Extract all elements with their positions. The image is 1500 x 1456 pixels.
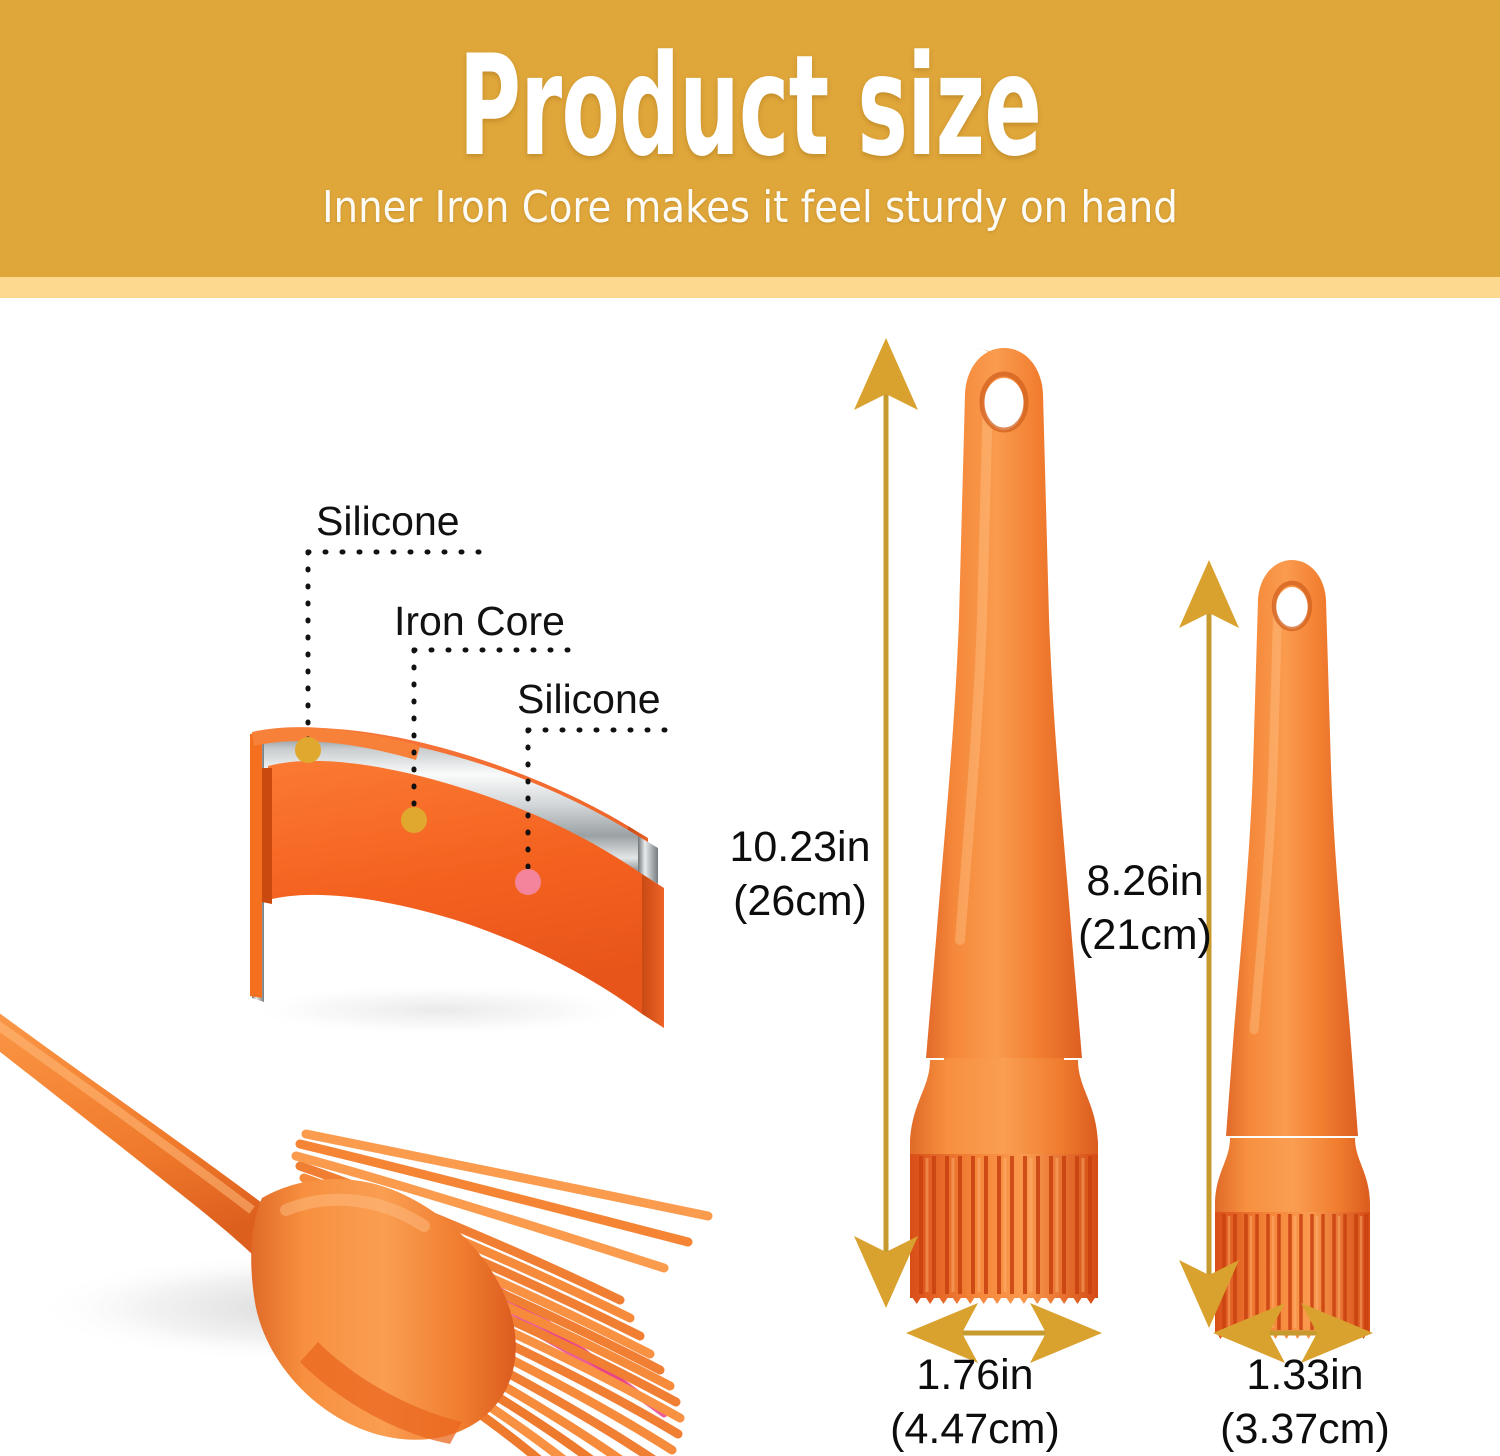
callout-dot-2: [515, 869, 541, 895]
page-title: Product size: [210, 36, 1290, 175]
dimension-small-height-cm: (21cm): [1040, 908, 1250, 962]
cross-section-front-left-edge: [262, 768, 272, 904]
large-brush: [910, 348, 1098, 1304]
product-illustration-stage: Silicone Iron Core Silicone 10.23in (26c…: [0, 298, 1500, 1448]
foreground-brush: [0, 970, 708, 1456]
dimension-label-small-width: 1.33in (3.37cm): [1185, 1348, 1425, 1456]
cross-section-front-edge: [642, 874, 664, 1028]
dimension-label-large-width: 1.76in (4.47cm): [855, 1348, 1095, 1456]
header-banner: Product size Inner Iron Core makes it fe…: [0, 0, 1500, 277]
page-subtitle: Inner Iron Core makes it feel sturdy on …: [90, 184, 1410, 232]
dimension-large-height-cm: (26cm): [690, 874, 910, 928]
callout-label-silicone-top: Silicone: [316, 498, 460, 544]
large-brush-head-body: [910, 1060, 1098, 1156]
dimension-large-width-inches: 1.76in: [916, 1351, 1033, 1399]
callout-dot-0: [295, 737, 321, 763]
dimension-label-large-height: 10.23in (26cm): [690, 820, 910, 928]
header-accent-band: [0, 277, 1500, 298]
cross-section-diagram: [250, 727, 664, 1028]
dimension-label-small-height: 8.26in (21cm): [1040, 854, 1250, 962]
callout-label-iron-core: Iron Core: [394, 598, 565, 644]
dimension-small-height-inches: 8.26in: [1086, 857, 1203, 905]
small-brush-handle-body: [1226, 560, 1358, 1136]
large-brush-bristles: [910, 1154, 1098, 1304]
dimension-small-width-inches: 1.33in: [1246, 1351, 1363, 1399]
small-brush-bristles: [1215, 1212, 1370, 1339]
foreground-brush-handle-highlight: [0, 984, 252, 1210]
small-brush-head: [1215, 1138, 1370, 1214]
callout-label-silicone-bottom: Silicone: [517, 676, 661, 722]
cross-section-top-silicone-flap: [250, 732, 262, 998]
shadow-cross-section: [240, 984, 640, 1036]
cross-section-front-silicone: [268, 761, 642, 1014]
callout-dot-1: [401, 807, 427, 833]
dimension-large-height-inches: 10.23in: [729, 823, 870, 871]
